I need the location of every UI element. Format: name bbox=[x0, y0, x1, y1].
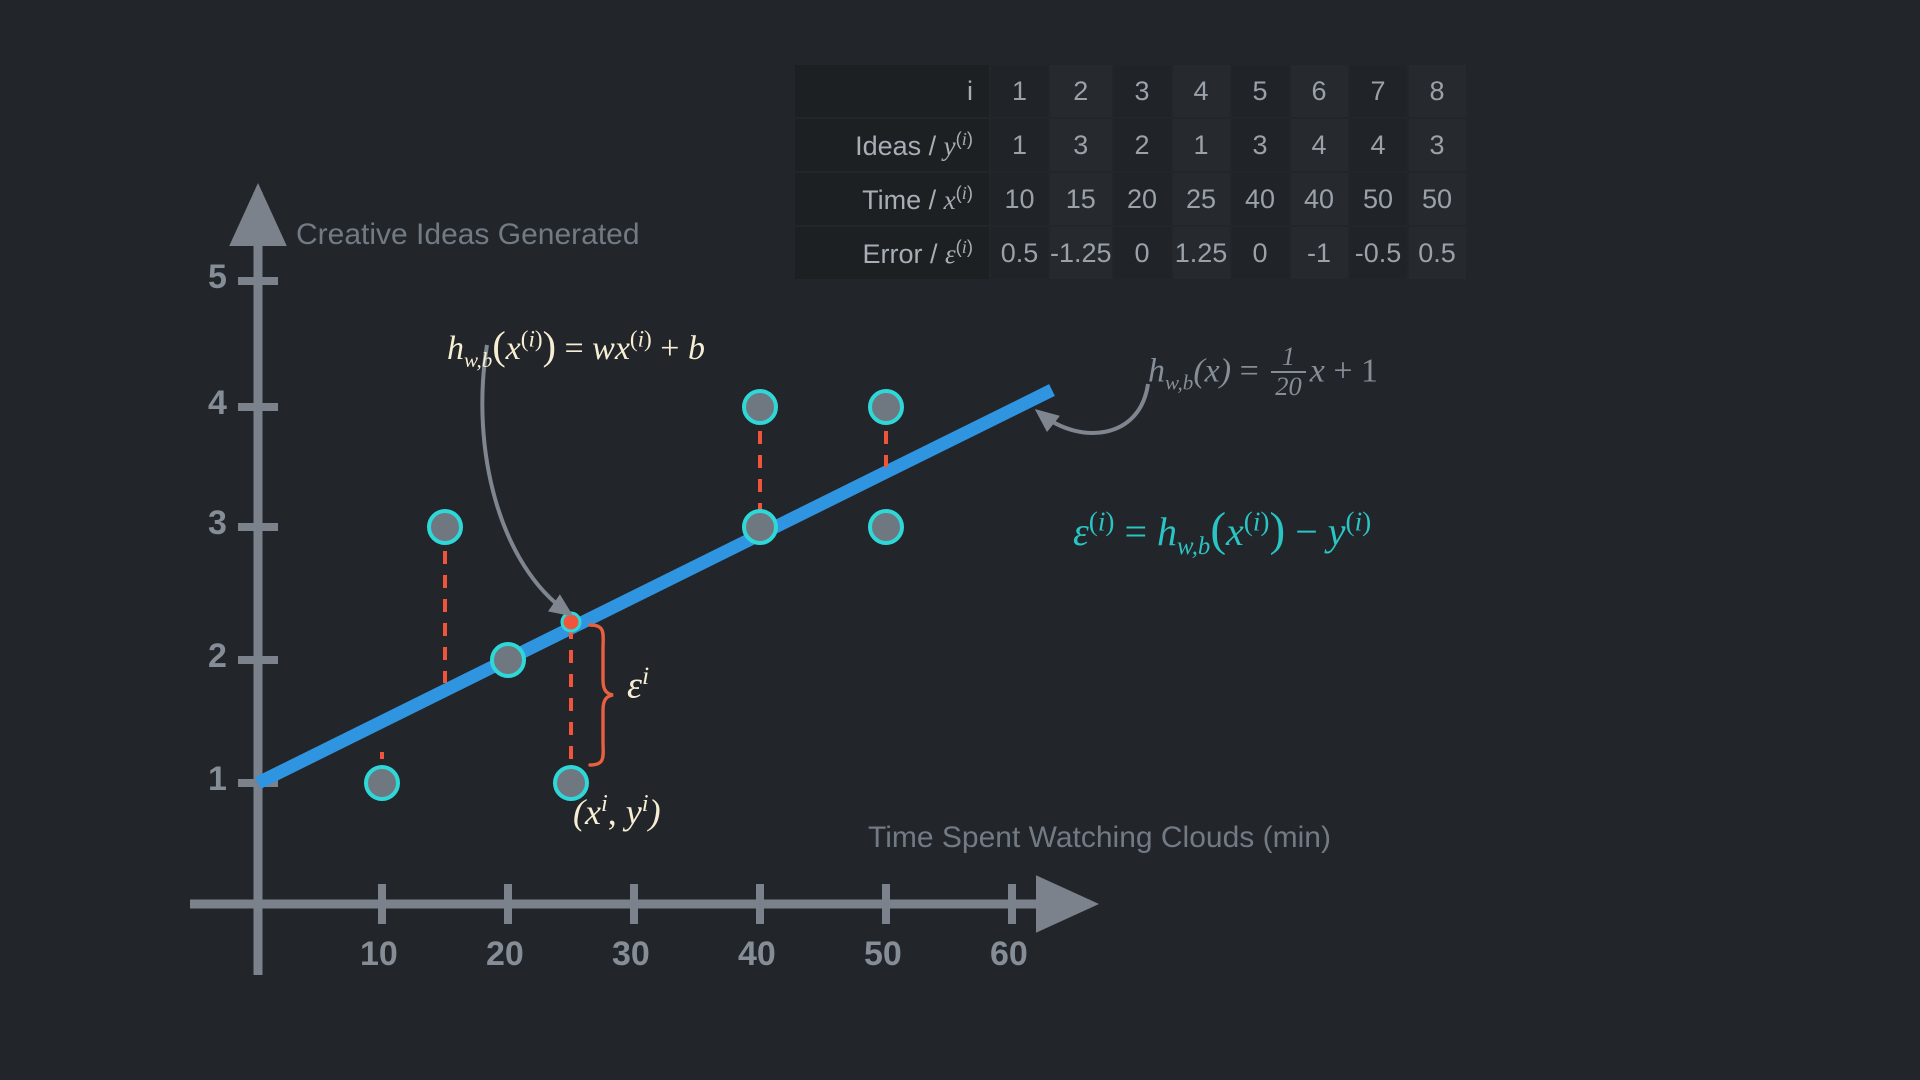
y-tick-label-4: 4 bbox=[208, 384, 227, 423]
error-definition-equation: ε(i) = hw,b(x(i)) − y(i) bbox=[1073, 503, 1371, 561]
regression-line bbox=[258, 390, 1052, 783]
slope-fraction: 120 bbox=[1271, 343, 1306, 401]
hypothesis-line-equation: hw,b(x) = 120x + 1 bbox=[1148, 345, 1378, 403]
x-tick-label-40: 40 bbox=[738, 935, 776, 974]
scatter-plot bbox=[0, 0, 1920, 1080]
epsilon-brace bbox=[590, 625, 613, 765]
epsilon-brace-label: εi bbox=[627, 661, 649, 708]
y-tick-label-1: 1 bbox=[208, 760, 227, 799]
data-point-6 bbox=[744, 391, 776, 423]
data-point-5 bbox=[744, 511, 776, 543]
data-point-8 bbox=[870, 511, 902, 543]
y-tick-label-5: 5 bbox=[208, 258, 227, 297]
predicted-point-highlight bbox=[562, 613, 580, 631]
data-point-1 bbox=[366, 767, 398, 799]
y-tick-label-2: 2 bbox=[208, 637, 227, 676]
x-axis bbox=[190, 884, 1090, 924]
y-axis-title: Creative Ideas Generated bbox=[296, 218, 640, 252]
x-tick-label-20: 20 bbox=[486, 935, 524, 974]
figure-canvas: i 1 2 3 4 5 6 7 8 Ideas / y(i) 1 3 2 1 3… bbox=[0, 0, 1920, 1080]
hypothesis-pointer-arrow bbox=[482, 345, 567, 612]
data-point-2 bbox=[429, 511, 461, 543]
y-axis bbox=[238, 192, 278, 975]
x-axis-title: Time Spent Watching Clouds (min) bbox=[868, 821, 1331, 855]
line-equation-pointer-arrow bbox=[1041, 384, 1148, 433]
highlighted-point-label: (xi, yi) bbox=[573, 790, 661, 833]
data-point-3 bbox=[492, 644, 524, 676]
data-point-7 bbox=[870, 391, 902, 423]
x-tick-label-50: 50 bbox=[864, 935, 902, 974]
x-tick-label-30: 30 bbox=[612, 935, 650, 974]
x-tick-label-60: 60 bbox=[990, 935, 1028, 974]
y-tick-label-3: 3 bbox=[208, 504, 227, 543]
x-tick-label-10: 10 bbox=[360, 935, 398, 974]
hypothesis-point-equation: hw,b(x(i)) = wx(i) + b bbox=[447, 322, 705, 373]
